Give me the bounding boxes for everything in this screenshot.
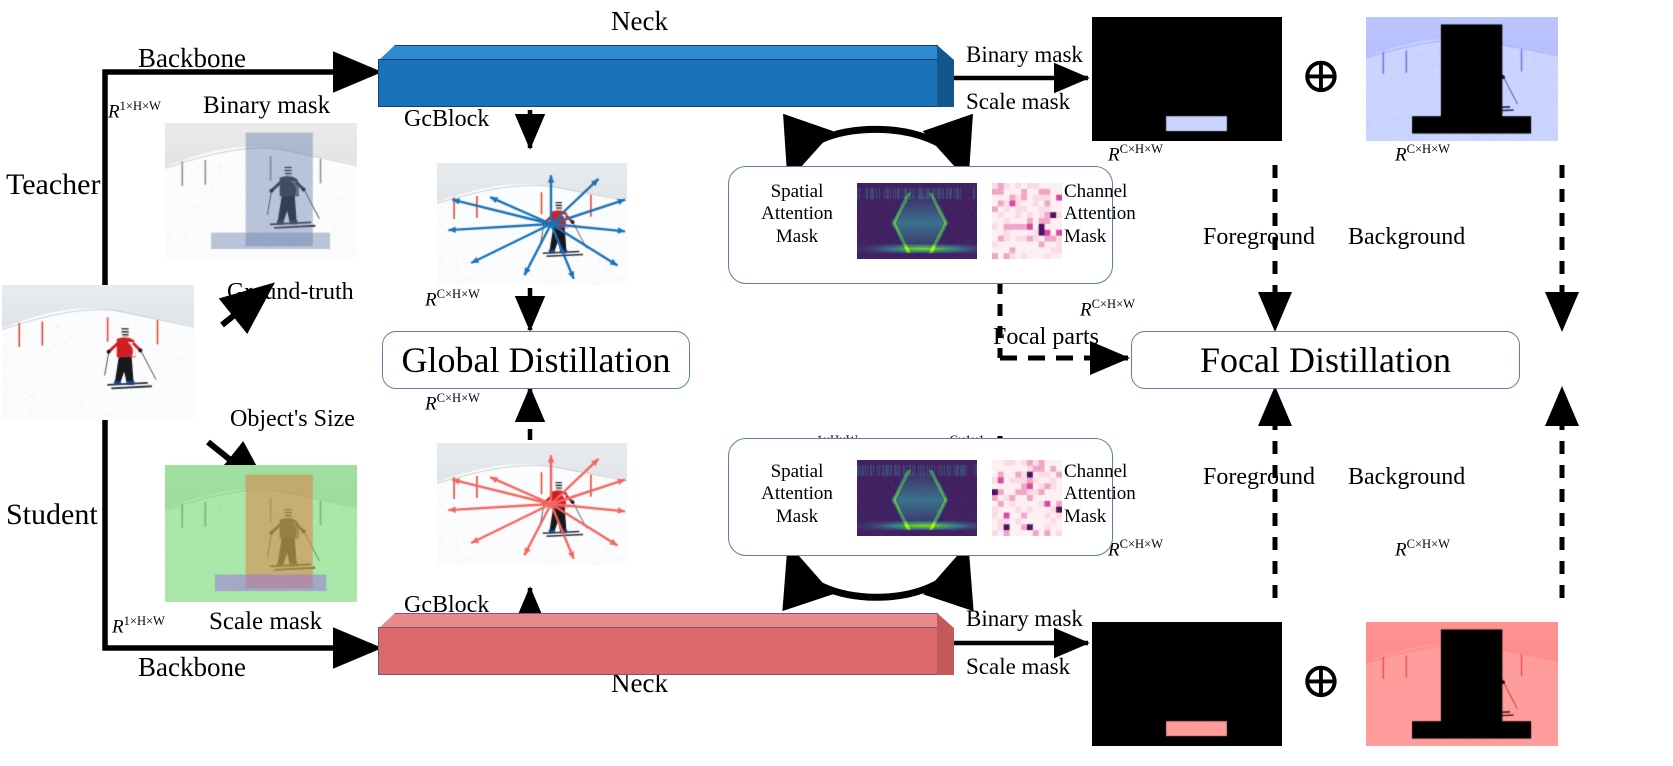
- teacher-foreground-image: [1092, 17, 1282, 141]
- teacher-neck-binary-mask-label: Binary mask: [966, 43, 1083, 66]
- student-backbone-label: Backbone: [138, 654, 246, 681]
- global-distillation-label: Global Distillation: [402, 339, 671, 381]
- focal-parts-label: Focal parts: [993, 325, 1099, 349]
- teacher-oplus-icon: ⊕: [1300, 50, 1342, 100]
- teacher-background-image: [1366, 17, 1558, 141]
- student-bg-shape-label: RC×H×W: [1395, 538, 1450, 559]
- student-spatial-attention-heatmap: [857, 460, 977, 536]
- student-background-image: [1366, 622, 1558, 746]
- source-image: [2, 285, 194, 420]
- student-scale-mask-label: Scale mask: [209, 609, 322, 634]
- student-neck-box: [378, 613, 938, 675]
- student-neck-scale-mask-label: Scale mask: [966, 655, 1070, 678]
- teacher-bg-shape-label: RC×H×W: [1395, 143, 1450, 164]
- teacher-gcblock-label: GcBlock: [404, 107, 489, 131]
- teacher-foreground-label: Foreground: [1203, 225, 1315, 249]
- student-feature-shape-label: RC×H×W: [425, 392, 480, 413]
- student-role-label: Student: [6, 500, 98, 530]
- student-mask-shape-label: R1×H×W: [112, 615, 165, 636]
- student-channel-attention-heatmap: [992, 460, 1062, 536]
- teacher-binary-mask-image: [165, 123, 357, 260]
- teacher-gcblock-feature-image: [437, 163, 627, 285]
- student-foreground-label: Foreground: [1203, 465, 1315, 489]
- student-background-label: Background: [1348, 465, 1465, 489]
- objects-size-label: Object's Size: [230, 407, 355, 431]
- teacher-spatial-attention-heatmap: [857, 183, 977, 259]
- student-scale-mask-image: [165, 465, 357, 602]
- teacher-spatial-attention-label: Spatial Attention Mask: [743, 181, 851, 248]
- student-attention-panel: Spatial Attention Mask Channel Attention…: [728, 438, 1113, 556]
- teacher-neck-front-face: [378, 59, 938, 107]
- focal-distillation-label: Focal Distillation: [1200, 339, 1451, 381]
- student-spatial-attention-label: Spatial Attention Mask: [743, 461, 851, 528]
- focal-distillation-box[interactable]: Focal Distillation: [1131, 331, 1520, 389]
- student-neck-side-face: [937, 613, 954, 675]
- student-oplus-icon: ⊕: [1300, 655, 1342, 705]
- teacher-backbone-label: Backbone: [138, 45, 246, 72]
- teacher-neck-box: [378, 45, 938, 107]
- focal-parts-shape-label: RC×H×W: [1080, 298, 1135, 319]
- student-gcblock-feature-image: [437, 443, 627, 565]
- student-foreground-image: [1092, 622, 1282, 746]
- teacher-binary-mask-label: Binary mask: [203, 93, 330, 118]
- global-distillation-box[interactable]: Global Distillation: [382, 331, 690, 389]
- teacher-fg-shape-label: RC×H×W: [1108, 143, 1163, 164]
- teacher-channel-attention-heatmap: [992, 183, 1062, 259]
- teacher-feature-shape-label: RC×H×W: [425, 288, 480, 309]
- teacher-neck-scale-mask-label: Scale mask: [966, 90, 1070, 113]
- teacher-background-label: Background: [1348, 225, 1465, 249]
- teacher-mask-shape-label: R1×H×W: [108, 100, 161, 121]
- student-neck-front-face: [378, 627, 938, 675]
- teacher-role-label: Teacher: [6, 170, 100, 200]
- student-channel-attention-label: Channel Attention Mask: [1064, 461, 1172, 528]
- teacher-neck-side-face: [937, 45, 954, 107]
- ground-truth-label: Ground-truth: [227, 280, 354, 304]
- teacher-channel-attention-label: Channel Attention Mask: [1064, 181, 1172, 248]
- student-attention-split-arrows: [791, 553, 965, 597]
- teacher-neck-label: Neck: [611, 8, 668, 35]
- student-neck-binary-mask-label: Binary mask: [966, 607, 1083, 630]
- student-fg-shape-label: RC×H×W: [1108, 538, 1163, 559]
- teacher-attention-panel: Spatial Attention Mask Channel Attention…: [728, 166, 1113, 284]
